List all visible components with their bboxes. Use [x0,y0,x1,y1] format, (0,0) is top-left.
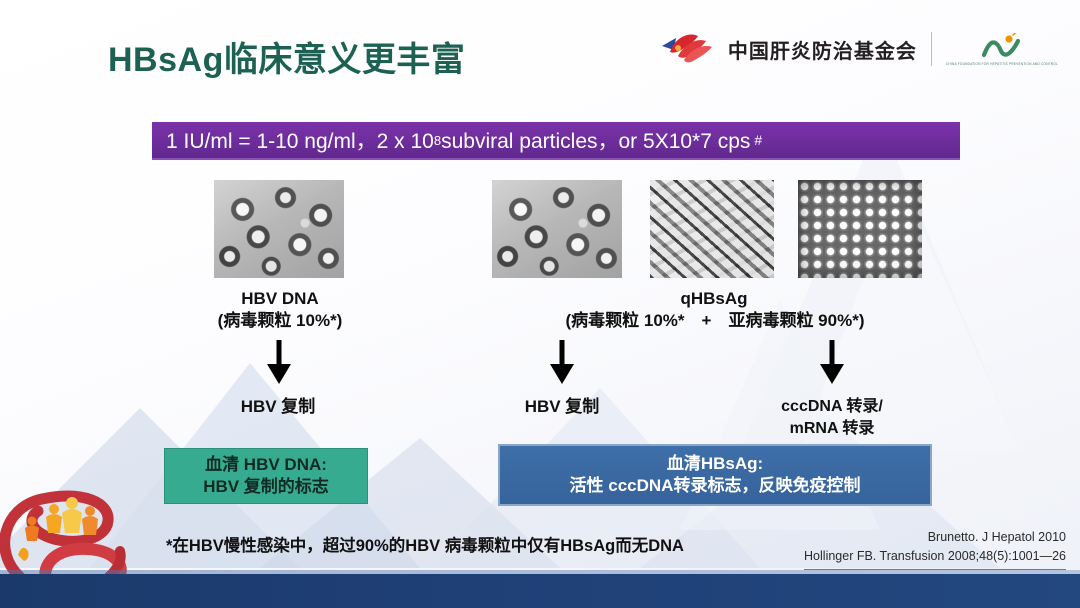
logo-divider [931,32,932,66]
callout-blue-line2: 活性 cccDNA转录标志，反映免疫控制 [570,475,861,497]
banner-middle: subviral particles，or 5X10*7 cps [441,125,750,155]
left-column-heading: HBV DNA [175,288,385,310]
micrograph-subviral-spheres [798,180,922,278]
footnote-text: *在HBV慢性感染中，超过90%的HBV 病毒颗粒中仅有HBsAg而无DNA [166,532,684,556]
callout-green-line2: HBV 复制的标志 [203,476,329,498]
footer-bar [0,574,1080,608]
right-column-outcome-left: HBV 复制 [462,396,662,418]
micrograph-hbv-virion-right [492,180,622,278]
wave-logo-icon [982,33,1022,61]
banner-prefix: 1 IU/ml = 1-10 ng/ml，2 x 10 [166,125,434,155]
reference-line-2: Hollinger FB. Transfusion 2008;48(5):100… [804,547,1066,566]
secondary-logo-subtitle: CHINA FOUNDATION FOR HEPATITIS PREVENTIO… [946,62,1058,66]
arrow-down-right-a [545,340,579,386]
page-title: HBsAg临床意义更丰富 [108,32,465,81]
reference-block: Brunetto. J Hepatol 2010 Hollinger FB. T… [804,528,1066,570]
left-column-outcome: HBV 复制 [178,396,378,418]
callout-serum-hbsag: 血清HBsAg: 活性 cccDNA转录标志，反映免疫控制 [498,444,932,506]
callout-green-line1: 血清 HBV DNA: [205,454,327,476]
logo-organization-name: 中国肝炎防治基金会 [728,35,917,64]
arrow-down-left [262,340,296,386]
banner-marker: # [754,132,762,148]
arrow-down-right-b [815,340,849,386]
micrograph-hbv-virion-left [214,180,344,278]
slide-canvas: HBsAg临床意义更丰富 中国肝炎防治基金会 CHINA FOUNDATION … [0,0,1080,608]
right-column-outcome-right-line1: cccDNA 转录/ [752,396,912,417]
micrograph-subviral-filaments [650,180,774,278]
right-column-outcome-right-line2: mRNA 转录 [752,418,912,439]
organization-logo: 中国肝炎防治基金会 CHINA FOUNDATION FOR HEPATITIS… [660,32,1058,66]
right-column-heading: qHBsAg [624,288,804,310]
conversion-banner: 1 IU/ml = 1-10 ng/ml，2 x 108 subviral pa… [152,122,960,160]
secondary-logo: CHINA FOUNDATION FOR HEPATITIS PREVENTIO… [946,33,1058,66]
banner-exponent: 8 [434,133,441,148]
right-column-subheading: (病毒颗粒 10%* + 亚病毒颗粒 90%*) [520,310,910,332]
left-column-subheading: (病毒颗粒 10%*) [160,310,400,332]
reference-line-1: Brunetto. J Hepatol 2010 [804,528,1066,547]
hand-logo-icon [660,32,714,66]
callout-blue-line1: 血清HBsAg: [667,453,763,475]
